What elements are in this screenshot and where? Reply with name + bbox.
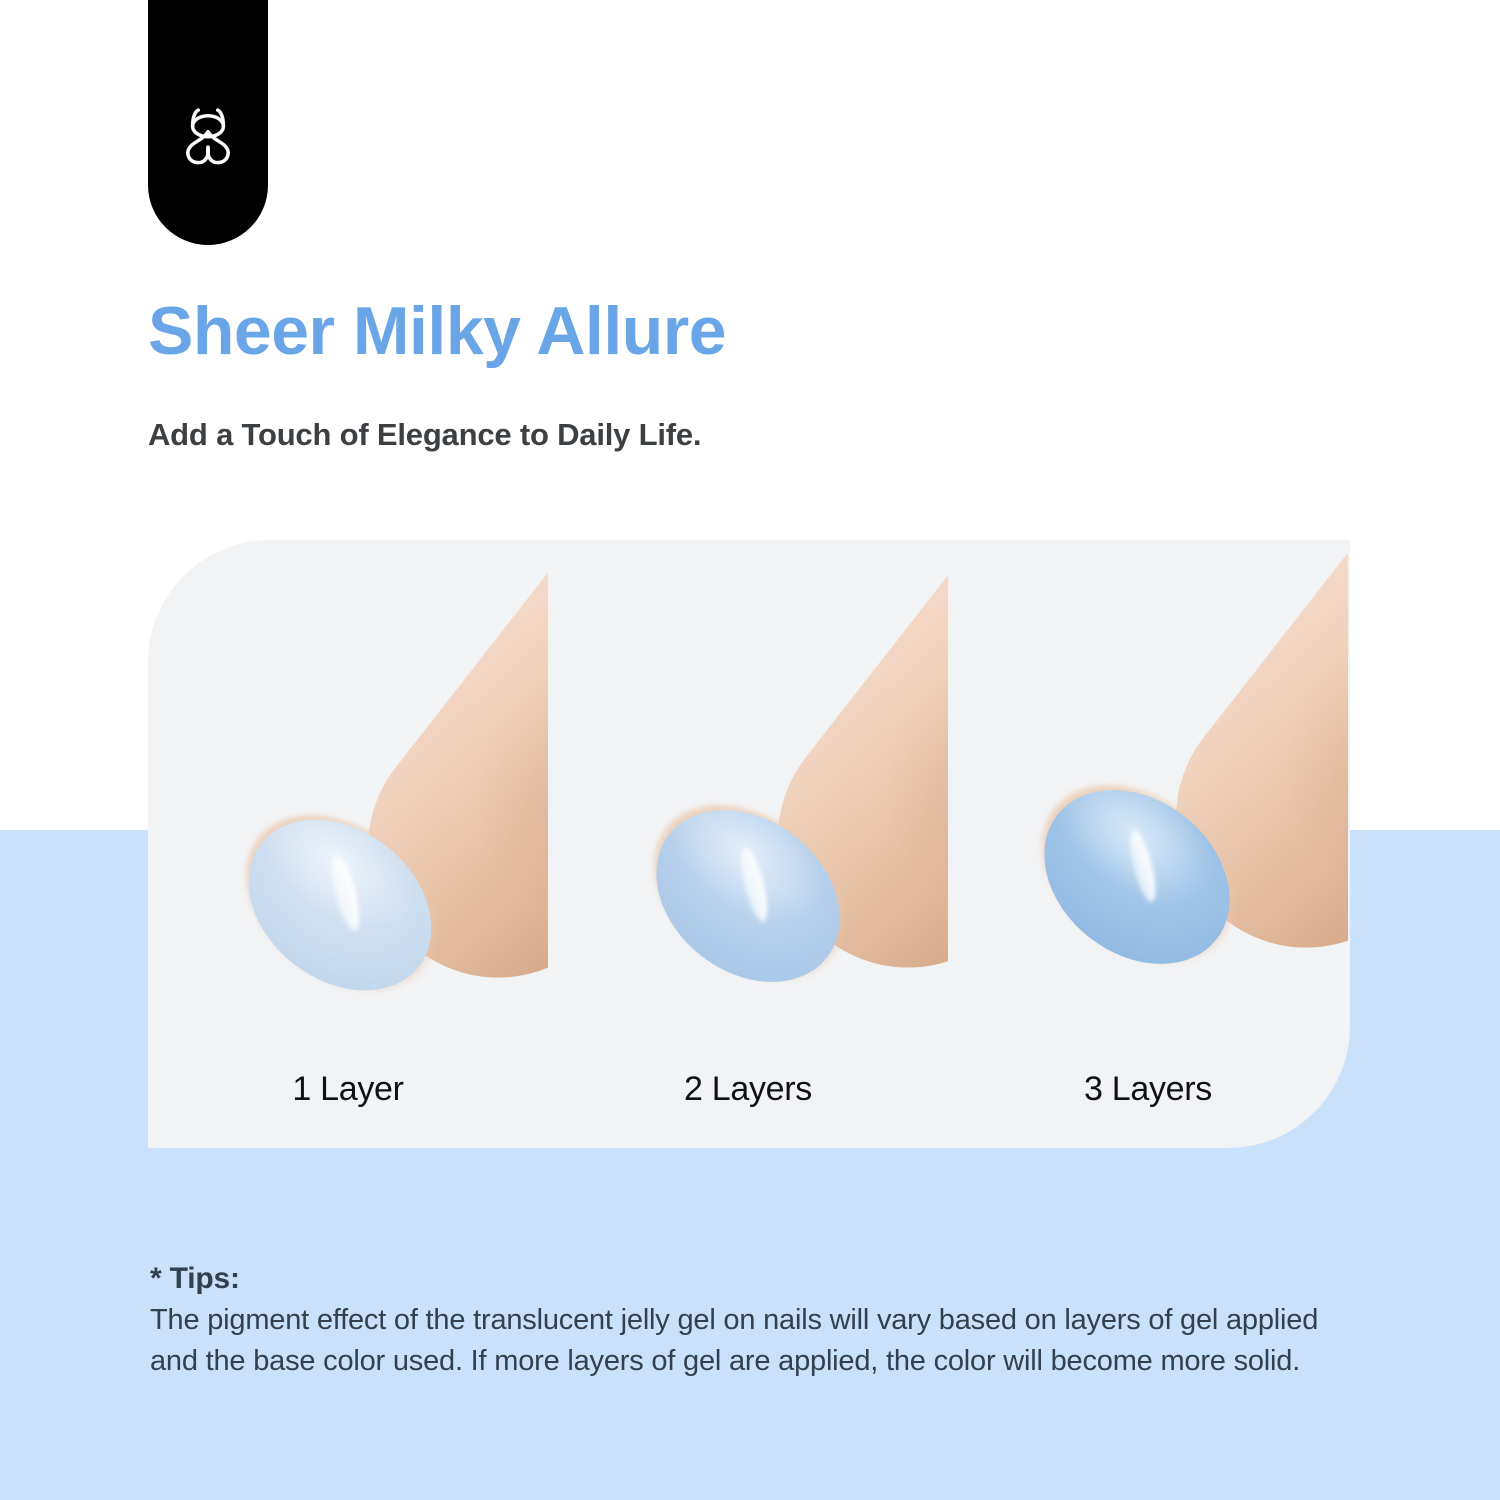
finger-photo-3-layers <box>948 540 1348 1020</box>
brand-logo-pill <box>148 0 268 245</box>
caption-2-layers: 2 Layers <box>548 1070 948 1109</box>
finger-photo-2-layers <box>548 540 948 1020</box>
finger-photo-1-layer <box>148 540 548 1020</box>
tips-title: * Tips: <box>150 1262 1330 1296</box>
page-subtitle: Add a Touch of Elegance to Daily Life. <box>148 417 701 453</box>
caption-1-layer: 1 Layer <box>148 1070 548 1109</box>
finger-photo-row <box>148 540 1350 1148</box>
page-title: Sheer Milky Allure <box>148 296 726 367</box>
bee-loop-logo-icon <box>173 101 243 171</box>
product-infographic: Sheer Milky Allure Add a Touch of Elegan… <box>0 0 1500 1500</box>
tips-body: The pigment effect of the translucent je… <box>150 1300 1330 1382</box>
caption-3-layers: 3 Layers <box>948 1070 1348 1109</box>
tips-block: * Tips: The pigment effect of the transl… <box>150 1262 1330 1382</box>
